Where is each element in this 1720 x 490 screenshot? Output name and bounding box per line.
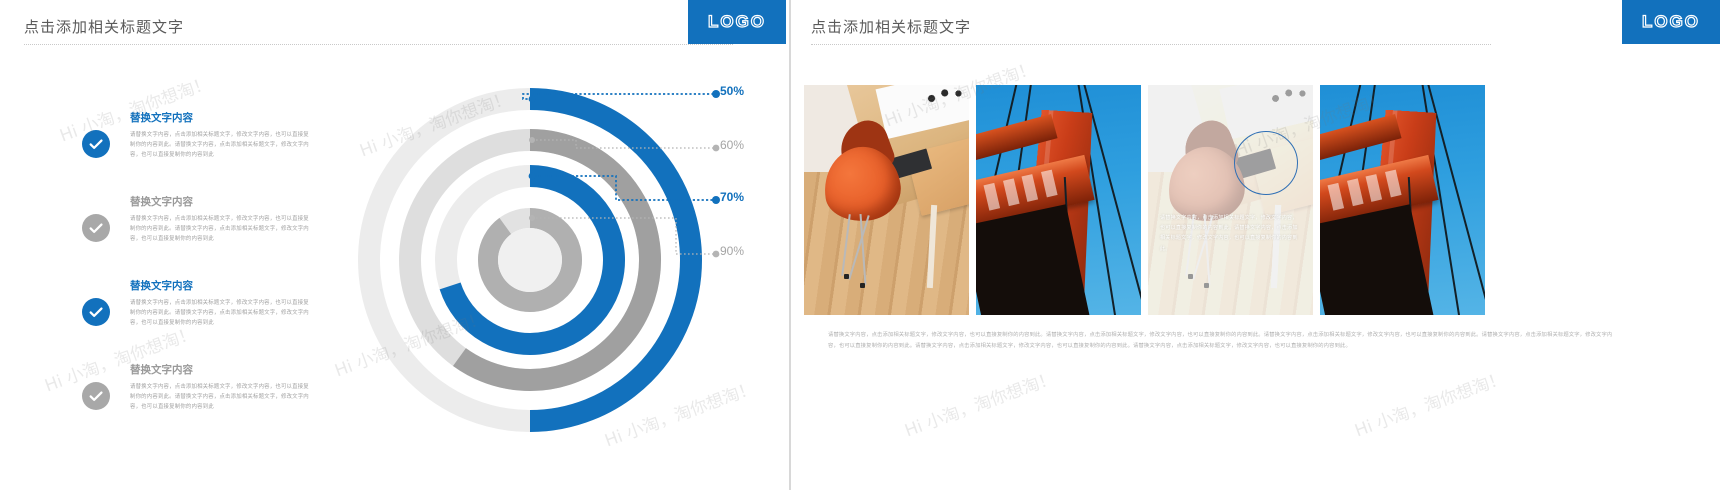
image-overlay-wash xyxy=(1148,85,1313,315)
bridge-photo xyxy=(976,85,1141,315)
gallery-image-3[interactable]: 请替换文字内容，点击添加相关标题文字，修改文字内容，也可以直接复制你的内容到此。… xyxy=(1148,85,1313,315)
list-item-body: 请替换文字内容，点击添加相关标题文字，修改文字内容，也可以直接复制你的内容到此。… xyxy=(130,214,312,244)
gallery-image-1[interactable] xyxy=(804,85,969,315)
list-item-title: 替换文字内容 xyxy=(130,196,312,209)
list-item-body: 请替换文字内容，点击添加相关标题文字，修改文字内容，也可以直接复制你的内容到此。… xyxy=(130,382,312,412)
list-item-title: 替换文字内容 xyxy=(130,280,312,293)
desk-photo xyxy=(804,85,969,315)
header-divider xyxy=(24,44,733,45)
concentric-ring-chart: 50% 60% 70% 90% xyxy=(318,72,748,462)
list-item[interactable]: 替换文字内容 请替换文字内容，点击添加相关标题文字，修改文字内容，也可以直接复制… xyxy=(82,280,312,348)
list-item-title: 替换文字内容 xyxy=(130,112,312,125)
gallery-image-2[interactable] xyxy=(976,85,1141,315)
list-item-body: 请替换文字内容，点击添加相关标题文字，修改文字内容，也可以直接复制你的内容到此。… xyxy=(130,130,312,160)
logo-badge[interactable]: LOGO xyxy=(688,0,786,44)
slide-right-header: 点击添加相关标题文字 LOGO xyxy=(791,0,1720,48)
bullet-list: 替换文字内容 请替换文字内容，点击添加相关标题文字，修改文字内容，也可以直接复制… xyxy=(82,112,312,448)
image-overlay-caption: 请替换文字内容，点击添加相关标题文字，修改文字内容，也可以直接复制你的内容到此。… xyxy=(1160,213,1301,254)
header-divider xyxy=(811,44,1491,45)
check-circle-icon xyxy=(82,130,110,158)
page-title: 点击添加相关标题文字 xyxy=(24,16,184,37)
logo-text: LOGO xyxy=(708,12,766,32)
list-item-title: 替换文字内容 xyxy=(130,364,312,377)
ring-label-1: 60% xyxy=(720,138,744,152)
list-item[interactable]: 替换文字内容 请替换文字内容，点击添加相关标题文字，修改文字内容，也可以直接复制… xyxy=(82,364,312,432)
logo-badge[interactable]: LOGO xyxy=(1622,0,1720,44)
ring-label-3: 90% xyxy=(720,244,744,258)
slide-left-header: 点击添加相关标题文字 LOGO xyxy=(0,0,789,48)
check-circle-icon xyxy=(82,382,110,410)
slide-right: 点击添加相关标题文字 LOGO xyxy=(791,0,1720,490)
gallery-caption: 请替换文字内容，点击添加相关标题文字，修改文字内容，也可以直接复制你的内容到此。… xyxy=(828,330,1618,352)
list-item[interactable]: 替换文字内容 请替换文字内容，点击添加相关标题文字，修改文字内容，也可以直接复制… xyxy=(82,112,312,180)
page-title: 点击添加相关标题文字 xyxy=(811,16,971,37)
bridge-photo-2 xyxy=(1320,85,1485,315)
slide-left: 点击添加相关标题文字 LOGO 替换文字内容 请替换文字内容，点击添加相关标题文… xyxy=(0,0,789,490)
presentation-preview: 点击添加相关标题文字 LOGO 替换文字内容 请替换文字内容，点击添加相关标题文… xyxy=(0,0,1720,490)
gallery-image-4[interactable] xyxy=(1320,85,1485,315)
list-item[interactable]: 替换文字内容 请替换文字内容，点击添加相关标题文字，修改文字内容，也可以直接复制… xyxy=(82,196,312,264)
ring-label-0: 50% xyxy=(720,84,744,98)
ring-label-2: 70% xyxy=(720,190,744,204)
list-item-body: 请替换文字内容，点击添加相关标题文字，修改文字内容，也可以直接复制你的内容到此。… xyxy=(130,298,312,328)
logo-text: LOGO xyxy=(1642,12,1700,32)
check-circle-icon xyxy=(82,298,110,326)
highlight-circle-icon xyxy=(1234,131,1298,195)
ring-chart-svg xyxy=(318,72,748,462)
check-circle-icon xyxy=(82,214,110,242)
